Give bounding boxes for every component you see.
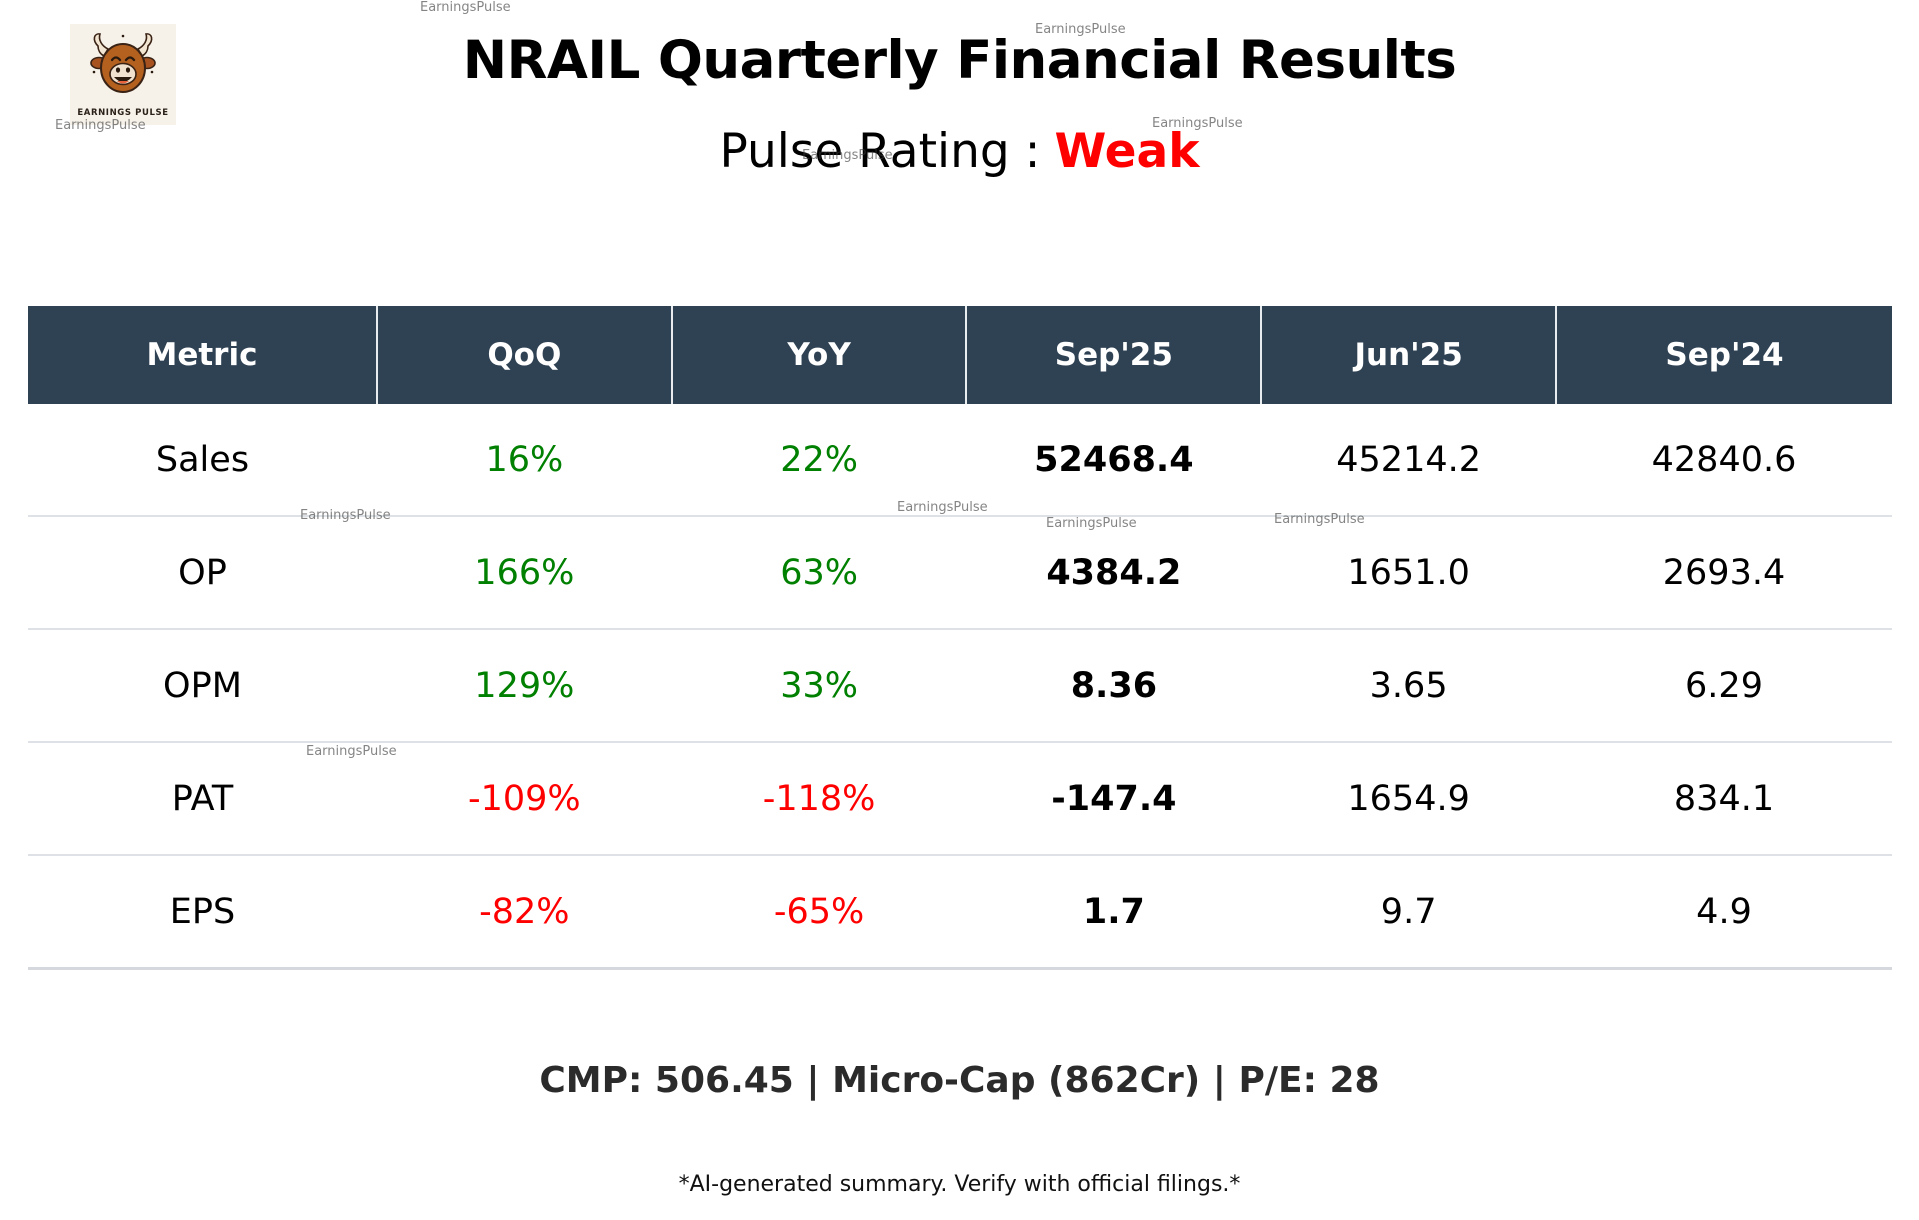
page-title: NRAIL Quarterly Financial Results (0, 30, 1919, 91)
cell-current: 4384.2 (966, 516, 1261, 629)
cell-prev-year: 4.9 (1556, 855, 1892, 969)
cell-qoq: -82% (377, 855, 672, 969)
table-row: EPS-82%-65%1.79.74.9 (28, 855, 1892, 969)
column-header-metric[interactable]: Metric (28, 306, 377, 404)
table-row: PAT-109%-118%-147.41654.9834.1 (28, 742, 1892, 855)
cell-prev-quarter: 1651.0 (1261, 516, 1556, 629)
cell-yoy: -118% (672, 742, 967, 855)
cell-prev-year: 2693.4 (1556, 516, 1892, 629)
cell-prev-quarter: 9.7 (1261, 855, 1556, 969)
table-row: OP166%63%4384.21651.02693.4 (28, 516, 1892, 629)
pulse-rating: Pulse Rating :Weak (0, 124, 1919, 179)
column-header-sep25[interactable]: Sep'25 (966, 306, 1261, 404)
cell-prev-quarter: 1654.9 (1261, 742, 1556, 855)
cell-prev-year: 834.1 (1556, 742, 1892, 855)
column-header-jun25[interactable]: Jun'25 (1261, 306, 1556, 404)
cell-metric: OPM (28, 629, 377, 742)
cell-yoy: 33% (672, 629, 967, 742)
financial-results-table: Metric QoQ YoY Sep'25 Jun'25 Sep'24 Sale… (28, 306, 1892, 970)
cell-prev-quarter: 3.65 (1261, 629, 1556, 742)
cell-prev-quarter: 45214.2 (1261, 404, 1556, 516)
logo-caption: EARNINGS PULSE (70, 108, 176, 118)
pulse-rating-label: Pulse Rating : (719, 124, 1040, 179)
cell-qoq: 166% (377, 516, 672, 629)
pulse-rating-value: Weak (1054, 124, 1199, 179)
cell-qoq: 129% (377, 629, 672, 742)
column-header-sep24[interactable]: Sep'24 (1556, 306, 1892, 404)
cell-metric: PAT (28, 742, 377, 855)
cell-qoq: -109% (377, 742, 672, 855)
table-row: OPM129%33%8.363.656.29 (28, 629, 1892, 742)
cell-yoy: 63% (672, 516, 967, 629)
valuation-summary: CMP: 506.45 | Micro-Cap (862Cr) | P/E: 2… (0, 1060, 1919, 1101)
cell-prev-year: 6.29 (1556, 629, 1892, 742)
cell-current: 52468.4 (966, 404, 1261, 516)
cell-current: -147.4 (966, 742, 1261, 855)
table-header-row: Metric QoQ YoY Sep'25 Jun'25 Sep'24 (28, 306, 1892, 404)
cell-current: 8.36 (966, 629, 1261, 742)
cell-metric: OP (28, 516, 377, 629)
cell-qoq: 16% (377, 404, 672, 516)
table-row: Sales16%22%52468.445214.242840.6 (28, 404, 1892, 516)
cell-yoy: -65% (672, 855, 967, 969)
cell-metric: EPS (28, 855, 377, 969)
cell-current: 1.7 (966, 855, 1261, 969)
cell-metric: Sales (28, 404, 377, 516)
column-header-qoq[interactable]: QoQ (377, 306, 672, 404)
watermark: EarningsPulse (420, 0, 511, 15)
cell-prev-year: 42840.6 (1556, 404, 1892, 516)
disclaimer-text: *AI-generated summary. Verify with offic… (0, 1172, 1919, 1197)
column-header-yoy[interactable]: YoY (672, 306, 967, 404)
cell-yoy: 22% (672, 404, 967, 516)
